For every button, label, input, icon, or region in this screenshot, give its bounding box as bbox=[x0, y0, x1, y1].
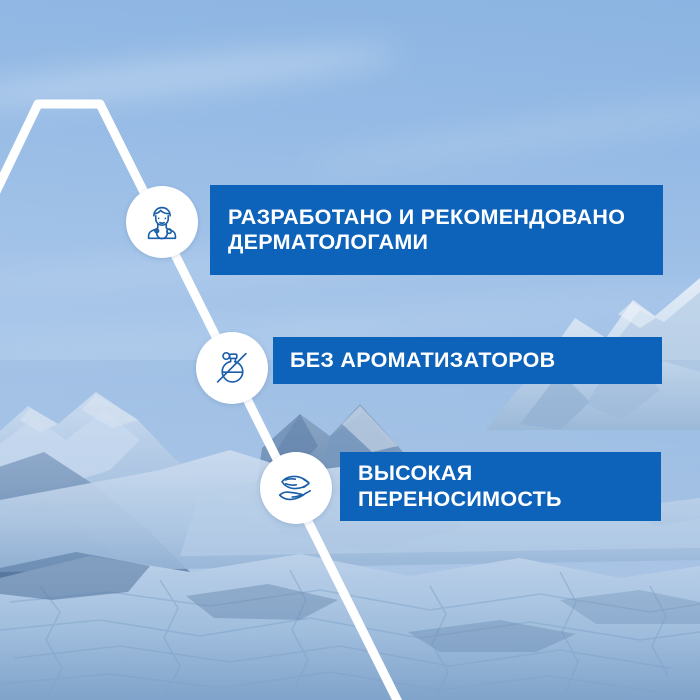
feature-banner-fragrance-free: БЕЗ АРОМАТИЗАТОРОВ bbox=[273, 337, 662, 384]
feature-icon-high-tolerance bbox=[260, 452, 332, 524]
banner-text-dermatologist: РАЗРАБОТАНО И РЕКОМЕНДОВАНО ДЕРМАТОЛОГАМ… bbox=[228, 205, 625, 256]
feature-icon-fragrance-free bbox=[196, 332, 268, 404]
feature-banner-high-tolerance: ВЫСОКАЯ ПЕРЕНОСИМОСТЬ bbox=[340, 452, 661, 521]
feature-banner-dermatologist: РАЗРАБОТАНО И РЕКОМЕНДОВАНО ДЕРМАТОЛОГАМ… bbox=[210, 185, 663, 275]
banner-text-high-tolerance: ВЫСОКАЯ ПЕРЕНОСИМОСТЬ bbox=[358, 461, 562, 512]
no-fragrance-bottle-icon bbox=[209, 345, 255, 391]
banner-text-fragrance-free: БЕЗ АРОМАТИЗАТОРОВ bbox=[290, 348, 555, 373]
hand-with-feather-icon bbox=[273, 465, 319, 511]
promo-poster: РАЗРАБОТАНО И РЕКОМЕНДОВАНО ДЕРМАТОЛОГАМ… bbox=[0, 0, 700, 700]
doctor-stethoscope-icon bbox=[139, 199, 185, 245]
feature-icon-dermatologist bbox=[126, 186, 198, 258]
